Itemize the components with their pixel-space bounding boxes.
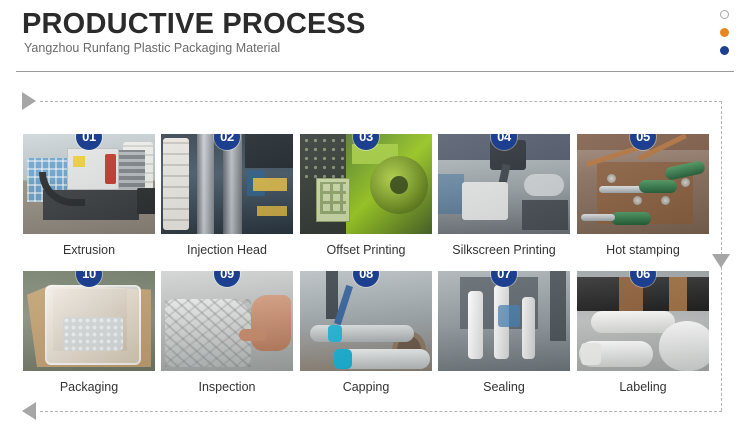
step-label-01: Extrusion bbox=[23, 243, 155, 257]
step-thumbnail-05: 05 bbox=[577, 134, 709, 234]
step-label-07: Sealing bbox=[438, 380, 570, 394]
step-label-03: Offset Printing bbox=[300, 243, 432, 257]
productive-process-poster: PRODUCTIVE PROCESS Yangzhou Runfang Plas… bbox=[0, 0, 750, 428]
step-label-05: Hot stamping bbox=[577, 243, 709, 257]
step-thumbnail-04: 04 bbox=[438, 134, 570, 234]
step-thumbnail-01: 01 bbox=[23, 134, 155, 234]
step-card-05[interactable]: 05 Hot stamping bbox=[577, 134, 709, 257]
step-card-06[interactable]: 06 Labeling bbox=[577, 271, 709, 394]
dot-hollow-icon bbox=[720, 10, 729, 19]
step-card-08[interactable]: 08 Capping bbox=[300, 271, 432, 394]
step-card-01[interactable]: 01 Extrusion bbox=[23, 134, 155, 257]
arrow-left-icon bbox=[22, 402, 36, 420]
dot-orange-icon bbox=[720, 28, 729, 37]
step-card-04[interactable]: 04 Silkscreen Printing bbox=[438, 134, 570, 257]
step-label-10: Packaging bbox=[23, 380, 155, 394]
dash-line-bottom bbox=[40, 411, 722, 412]
page-subtitle: Yangzhou Runfang Plastic Packaging Mater… bbox=[24, 41, 280, 55]
step-thumbnail-08: 08 bbox=[300, 271, 432, 371]
header-divider bbox=[16, 71, 734, 72]
header-dot-group bbox=[716, 10, 736, 64]
step-thumbnail-03: 03 bbox=[300, 134, 432, 234]
arrow-right-icon bbox=[22, 92, 36, 110]
step-thumbnail-09: 09 bbox=[161, 271, 293, 371]
step-card-02[interactable]: 02 Injection Head bbox=[161, 134, 293, 257]
step-label-06: Labeling bbox=[577, 380, 709, 394]
step-thumbnail-10: 10 bbox=[23, 271, 155, 371]
step-card-09[interactable]: 09 Inspection bbox=[161, 271, 293, 394]
arrow-down-icon bbox=[712, 254, 730, 268]
step-label-04: Silkscreen Printing bbox=[438, 243, 570, 257]
dot-blue-icon bbox=[720, 46, 729, 55]
step-thumbnail-06: 06 bbox=[577, 271, 709, 371]
step-card-10[interactable]: 10 Packaging bbox=[23, 271, 155, 394]
step-label-09: Inspection bbox=[161, 380, 293, 394]
dash-line-top bbox=[40, 101, 722, 102]
step-thumbnail-02: 02 bbox=[161, 134, 293, 234]
step-label-02: Injection Head bbox=[161, 243, 293, 257]
step-label-08: Capping bbox=[300, 380, 432, 394]
step-card-03[interactable]: 03 Offset Printing bbox=[300, 134, 432, 257]
page-title: PRODUCTIVE PROCESS bbox=[22, 8, 366, 41]
step-card-07[interactable]: 07 Sealing bbox=[438, 271, 570, 394]
step-thumbnail-07: 07 bbox=[438, 271, 570, 371]
header: PRODUCTIVE PROCESS Yangzhou Runfang Plas… bbox=[0, 0, 750, 73]
